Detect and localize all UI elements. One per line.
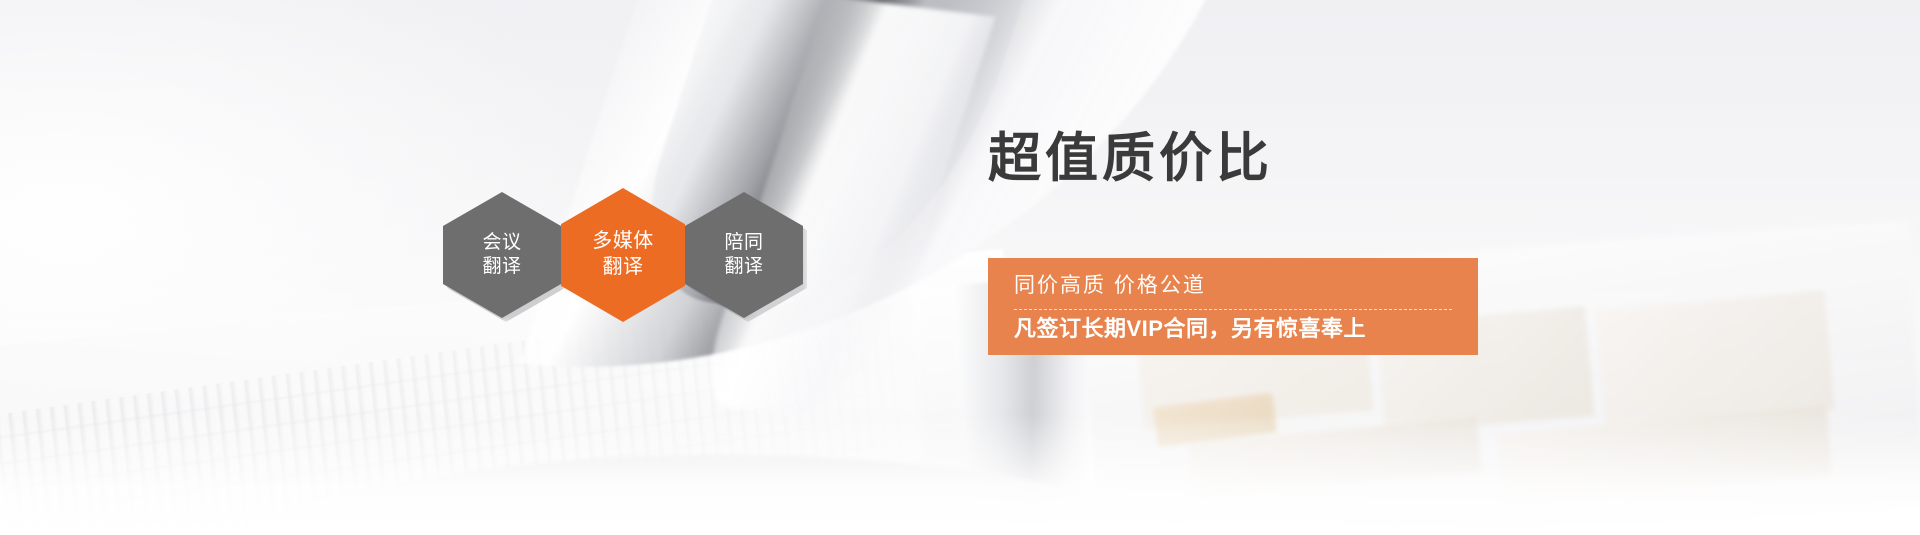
hexagon-label-line2: 翻译 (603, 255, 644, 281)
promo-box: 同价高质 价格公道 凡签订长期VIP合同，另有惊喜奉上 (988, 258, 1478, 355)
hexagon-label-line2: 翻译 (482, 255, 521, 279)
hexagon-label-line2: 翻译 (724, 255, 763, 279)
promo-offer-text: 凡签订长期VIP合同，另有惊喜奉上 (1014, 314, 1452, 345)
background-bottom-fade (0, 415, 1920, 535)
promo-banner: 会议 翻译 多媒体 翻译 陪同 翻译 超值质价比 同价高质 价格公道 凡签订长期… (0, 0, 1920, 535)
banner-headline: 超值质价比 (988, 132, 1273, 185)
hexagon-label-line1: 多媒体 (592, 229, 654, 255)
hexagon-label-line1: 陪同 (724, 231, 763, 255)
hexagon-label-line1: 会议 (482, 231, 521, 255)
promo-subtitle: 同价高质 价格公道 (1014, 270, 1452, 302)
promo-divider (1014, 309, 1452, 310)
